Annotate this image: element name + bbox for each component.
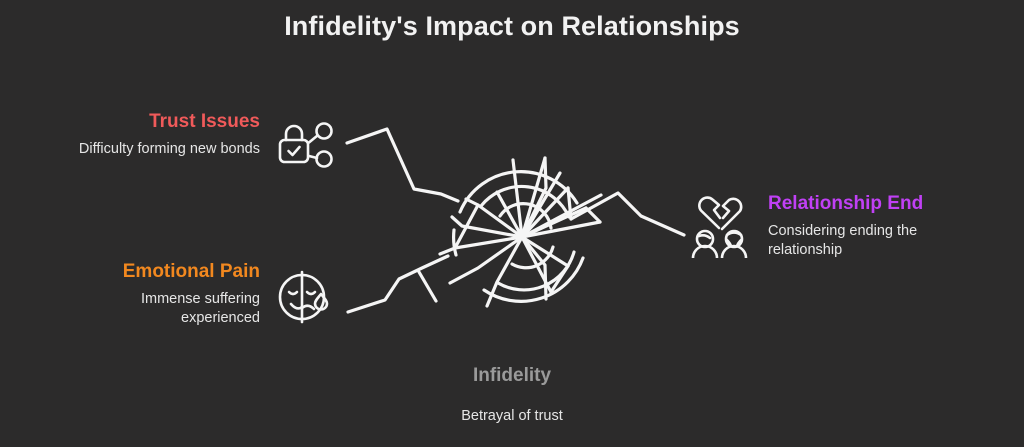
lock-network-icon	[274, 116, 336, 178]
node-relationship-end[interactable]: Relationship End Considering ending the …	[688, 194, 988, 260]
node-trust-issues-text: Trust Issues Difficulty forming new bond…	[60, 112, 260, 159]
node-trust-issues-label: Trust Issues	[60, 112, 260, 133]
node-trust-issues[interactable]: Trust Issues Difficulty forming new bond…	[60, 112, 336, 178]
infographic-canvas: Infidelity's Impact on Relationships	[0, 0, 1024, 447]
node-relationship-end-label: Relationship End	[768, 194, 988, 215]
node-infidelity-description: Betrayal of trust	[0, 407, 1024, 426]
node-emotional-pain[interactable]: Emotional Pain Immense suffering experie…	[60, 262, 336, 328]
node-infidelity-label: Infidelity	[0, 366, 1024, 387]
node-emotional-pain-label: Emotional Pain	[60, 262, 260, 283]
broken-heart-couple-icon	[688, 196, 754, 258]
node-infidelity[interactable]: Infidelity Betrayal of trust	[0, 366, 1024, 426]
node-relationship-end-text: Relationship End Considering ending the …	[768, 194, 988, 260]
node-relationship-end-description: Considering ending the relationship	[768, 222, 988, 260]
page-title: Infidelity's Impact on Relationships	[0, 11, 1024, 42]
node-emotional-pain-description: Immense suffering experienced	[60, 290, 260, 328]
split-face-crying-icon	[274, 266, 336, 328]
node-trust-issues-description: Difficulty forming new bonds	[60, 140, 260, 159]
node-emotional-pain-text: Emotional Pain Immense suffering experie…	[60, 262, 260, 328]
